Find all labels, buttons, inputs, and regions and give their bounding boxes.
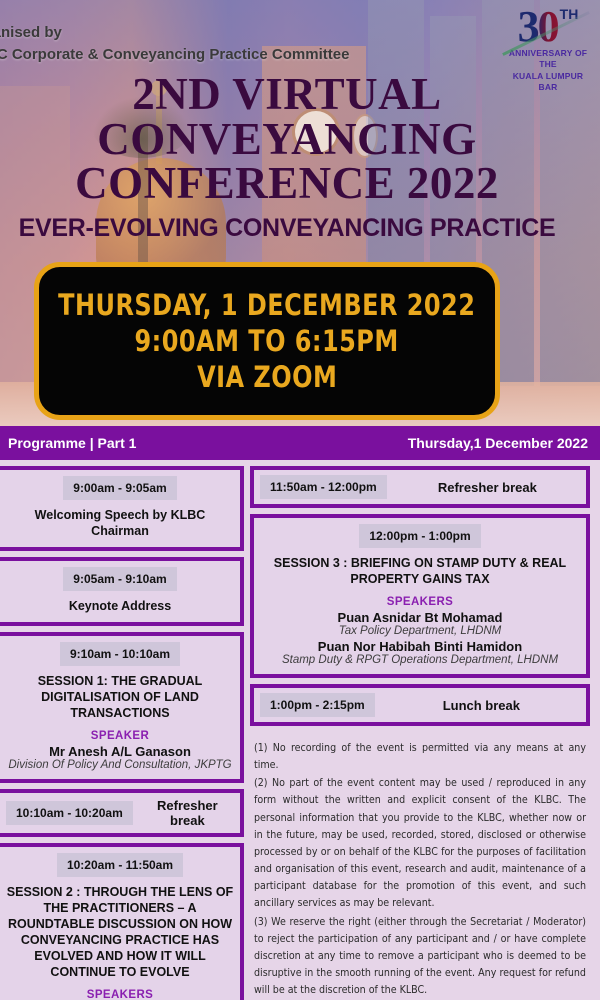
terms-host: (1) No recording of the event is permitt… (250, 732, 590, 1000)
break-time: 1:00pm - 2:15pm (260, 693, 375, 717)
session-time: 9:10am - 10:10am (60, 642, 180, 666)
terms-and-conditions: (1) No recording of the event is permitt… (250, 732, 590, 999)
programme-column-left: 9:00am - 9:05amWelcoming Speech by KLBC … (0, 466, 244, 1000)
session-card: 10:20am - 11:50amSESSION 2 : THROUGH THE… (0, 843, 244, 1000)
speaker-name: Puan Nor Habibah Binti Hamidon (260, 639, 580, 654)
agenda-time: 9:00am - 9:05am (63, 476, 176, 500)
date-time-box: THURSDAY, 1 DECEMBER 2022 9:00AM TO 6:15… (34, 262, 500, 420)
programme-bar: Programme | Part 1 Thursday,1 December 2… (0, 426, 600, 460)
speaker-heading: SPEAKERS (6, 989, 234, 1000)
organiser-block: Organised by KLBC Corporate & Conveyanci… (0, 22, 349, 66)
break-label: Lunch break (383, 698, 580, 713)
speaker-name: Mr Anesh A/L Ganason (6, 744, 234, 759)
event-platform: VIA ZOOM (197, 360, 337, 394)
session-title: SESSION 3 : BRIEFING ON STAMP DUTY & REA… (260, 555, 580, 587)
break-label: Refresher break (141, 798, 234, 828)
hero-subtitle: EVER-EVOLVING CONVEYANCING PRACTICE (0, 214, 600, 243)
speaker-organisation: Stamp Duty & RPGT Operations Department,… (260, 654, 580, 666)
programme-column-right: 11:50am - 12:00pmRefresher break12:00pm … (250, 466, 590, 1000)
organiser-committee: KLBC Corporate & Conveyancing Practice C… (0, 44, 349, 66)
programme-columns: 9:00am - 9:05amWelcoming Speech by KLBC … (0, 460, 600, 1000)
speaker-heading: SPEAKERS (260, 596, 580, 608)
title-line-2: CONVEYANCING (0, 117, 600, 162)
time-pill-wrap: 12:00pm - 1:00pm (260, 524, 580, 548)
event-date: THURSDAY, 1 DECEMBER 2022 (58, 288, 475, 322)
agenda-card: 9:05am - 9:10amKeynote Address (0, 557, 244, 626)
programme-bar-title: Programme | Part 1 (8, 435, 136, 451)
time-pill-wrap: 9:00am - 9:05am (6, 476, 234, 500)
break-card: 1:00pm - 2:15pmLunch break (250, 684, 590, 726)
anniversary-line-1: ANNIVERSARY OF THE (502, 48, 594, 71)
conference-poster: Organised by KLBC Corporate & Conveyanci… (0, 0, 600, 1000)
speaker-organisation: Division Of Policy And Consultation, JKP… (6, 759, 234, 771)
agenda-label: Welcoming Speech by KLBC Chairman (6, 507, 234, 539)
title-line-1: 2ND VIRTUAL (0, 72, 600, 117)
break-time: 10:10am - 10:20am (6, 801, 133, 825)
agenda-card: 9:00am - 9:05amWelcoming Speech by KLBC … (0, 466, 244, 551)
break-card: 11:50am - 12:00pmRefresher break (250, 466, 590, 508)
break-card: 10:10am - 10:20amRefresher break (0, 789, 244, 837)
terms-paragraph-1: (1) No recording of the event is permitt… (254, 740, 586, 774)
terms-paragraph-2: (2) No part of the event content may be … (254, 775, 586, 912)
break-label: Refresher break (395, 480, 580, 495)
speaker-heading: SPEAKER (6, 730, 234, 742)
time-pill-wrap: 10:20am - 11:50am (6, 853, 234, 877)
agenda-label: Keynote Address (6, 598, 234, 614)
time-pill-wrap: 9:10am - 10:10am (6, 642, 234, 666)
session-time: 12:00pm - 1:00pm (359, 524, 480, 548)
speaker-organisation: Tax Policy Department, LHDNM (260, 625, 580, 637)
session-title: SESSION 1: THE GRADUAL DIGITALISATION OF… (6, 673, 234, 721)
anniversary-number-row: 30TH (502, 6, 594, 48)
programme-bar-date: Thursday,1 December 2022 (408, 435, 588, 451)
terms-paragraph-3: (3) We reserve the right (either through… (254, 914, 586, 1000)
speaker-name: Puan Asnidar Bt Mohamad (260, 610, 580, 625)
hero-banner: Organised by KLBC Corporate & Conveyanci… (0, 0, 600, 426)
session-title: SESSION 2 : THROUGH THE LENS OF THE PRAC… (6, 884, 234, 980)
organiser-label: Organised by (0, 22, 349, 44)
session-card: 12:00pm - 1:00pmSESSION 3 : BRIEFING ON … (250, 514, 590, 678)
title-line-3: CONFERENCE 2022 (0, 161, 600, 206)
event-time: 9:00AM TO 6:15PM (135, 324, 399, 358)
time-pill-wrap: 9:05am - 9:10am (6, 567, 234, 591)
session-time: 10:20am - 11:50am (57, 853, 183, 877)
agenda-time: 9:05am - 9:10am (63, 567, 176, 591)
break-time: 11:50am - 12:00pm (260, 475, 387, 499)
title-block: 2ND VIRTUAL CONVEYANCING CONFERENCE 2022… (0, 72, 600, 243)
session-card: 9:10am - 10:10amSESSION 1: THE GRADUAL D… (0, 632, 244, 783)
